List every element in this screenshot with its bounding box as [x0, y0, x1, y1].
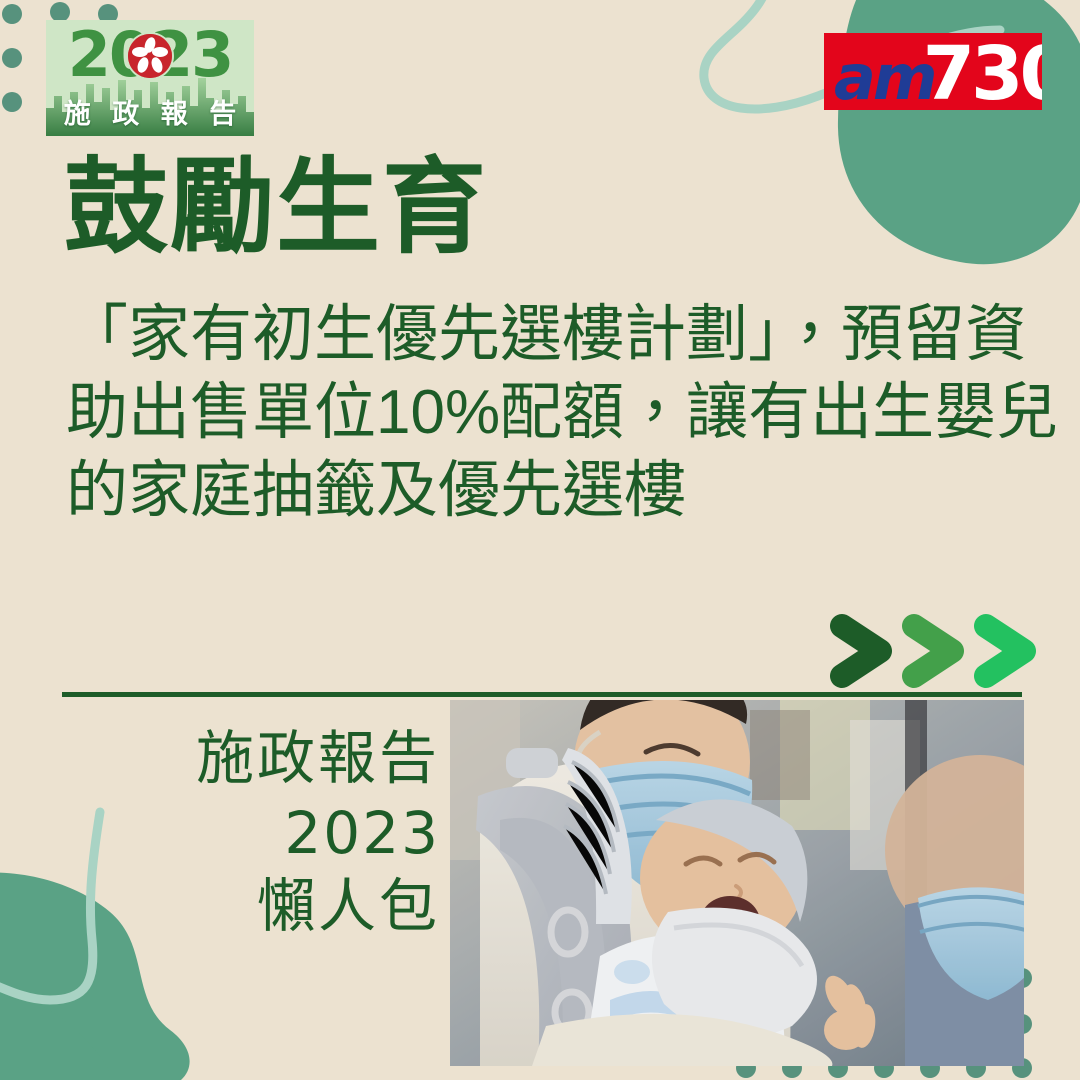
poster-canvas: 2023 施 政 報 告 am 730 鼓勵生育 「家有初生優先選樓計劃」，預留… [0, 0, 1080, 1080]
caption-line-3: 懶人包 [110, 870, 440, 944]
caption-line-1: 施政報告 [110, 722, 440, 796]
hong-kong-bauhinia-emblem-icon [128, 34, 172, 78]
am730-logo-730: 730 [923, 37, 1042, 111]
section-divider [62, 692, 1022, 697]
policy-logo-subtitle: 施 政 報 告 [46, 98, 254, 130]
chevron-icon-3 [986, 626, 1024, 676]
chevron-icon-2 [914, 626, 952, 676]
page-title: 鼓勵生育 [64, 152, 488, 264]
series-caption: 施政報告 2023 懶人包 [110, 722, 440, 944]
chevron-icon-1 [842, 626, 880, 676]
body-copy: 「家有初生優先選樓計劃」，預留資 助出售單位10%配額，讓有出生嬰兒 的家庭抽籤… [66, 296, 1038, 530]
news-photo [450, 700, 1024, 1066]
body-line-3: 的家庭抽籤及優先選樓 [66, 452, 1038, 530]
policy-address-2023-logo: 2023 施 政 報 告 [46, 20, 254, 136]
photo-illustration [450, 700, 1024, 1066]
next-arrows[interactable] [828, 612, 1040, 690]
caption-line-2: 2023 [110, 796, 440, 870]
am730-logo-am: am [834, 47, 934, 109]
body-line-2: 助出售單位10%配額，讓有出生嬰兒 [66, 374, 1038, 452]
am730-logo[interactable]: am 730 [824, 33, 1042, 110]
body-line-1: 「家有初生優先選樓計劃」，預留資 [66, 296, 1038, 374]
